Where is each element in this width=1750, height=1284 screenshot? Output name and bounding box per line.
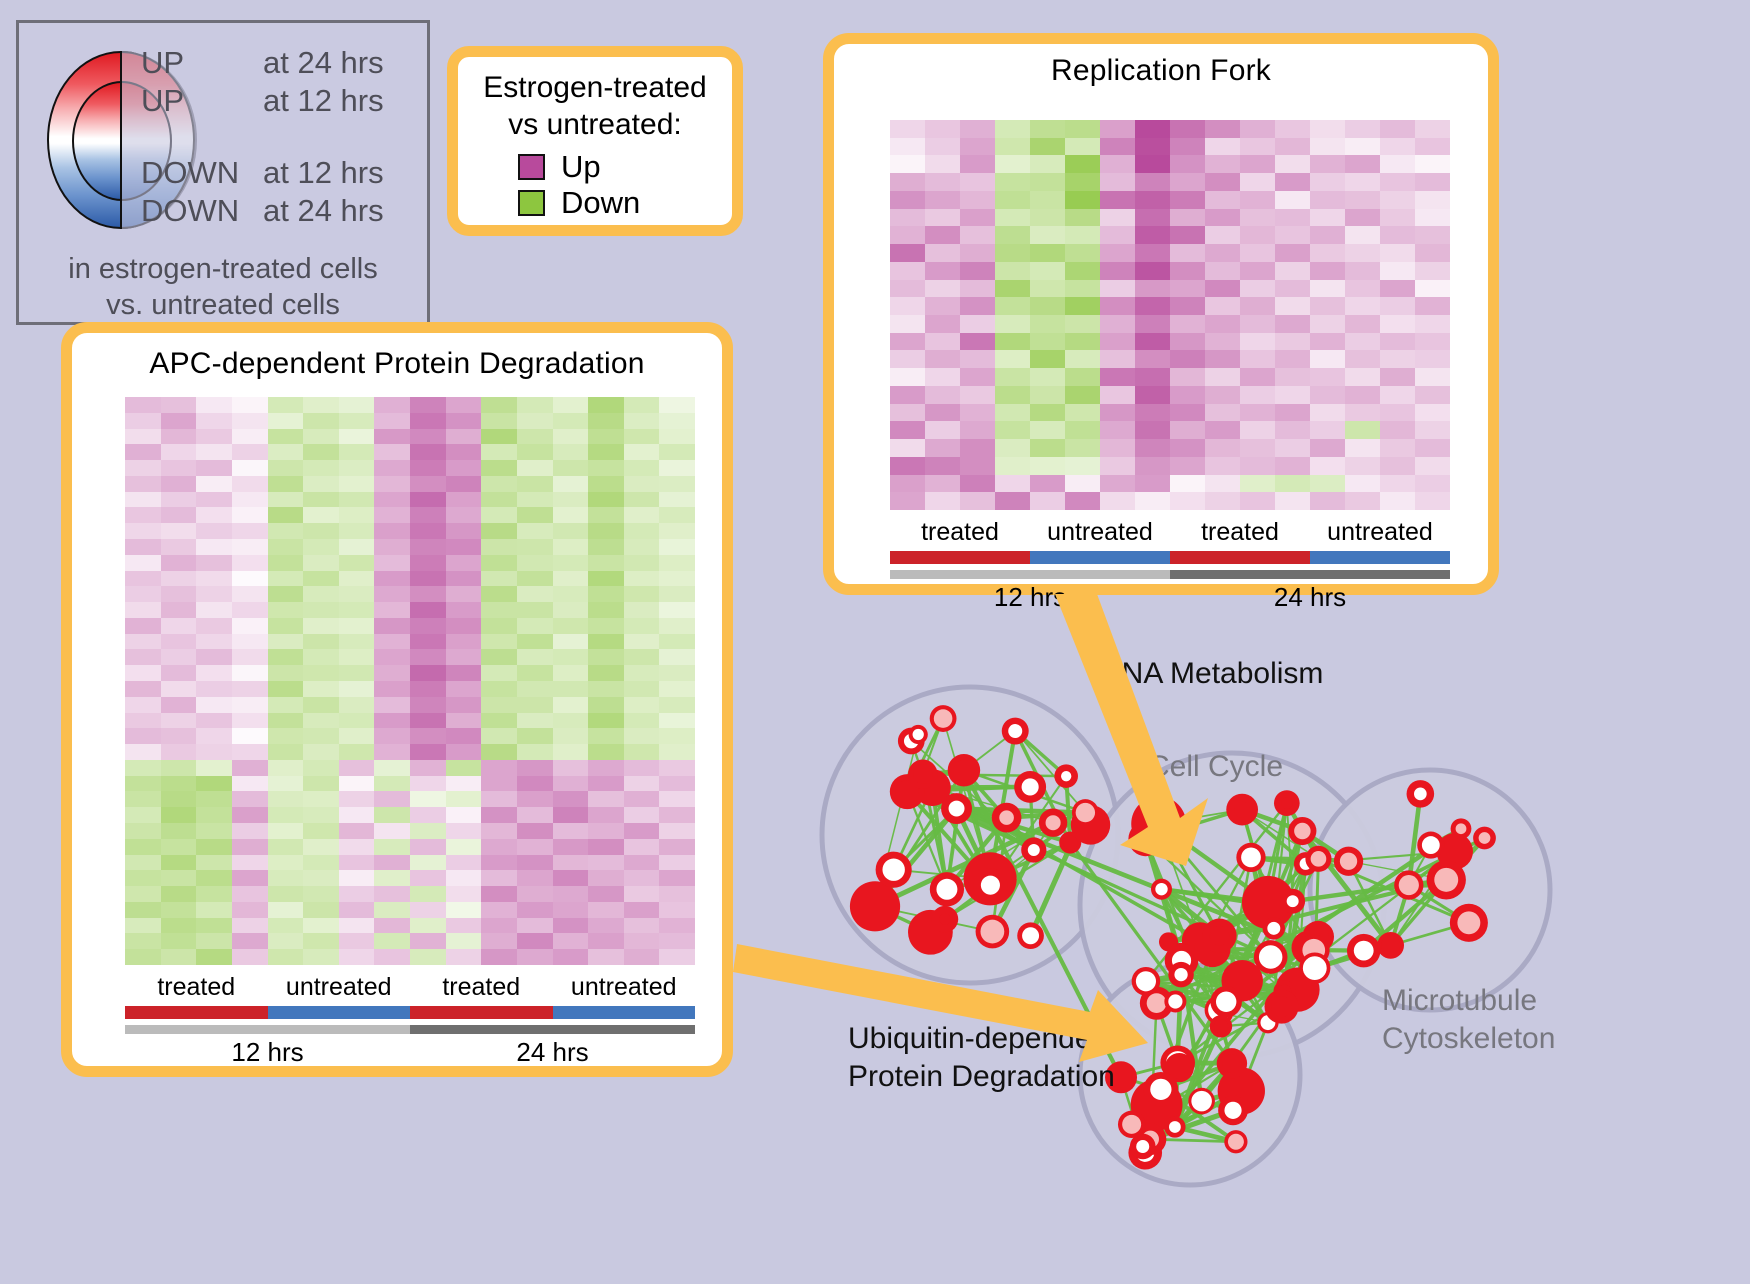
heatmap-cell bbox=[1205, 209, 1240, 227]
heatmap-cell bbox=[481, 870, 517, 886]
heatmap-cell bbox=[268, 807, 304, 823]
heatmap-cell bbox=[339, 728, 375, 744]
heatmap-cell bbox=[339, 949, 375, 965]
heatmap-cell bbox=[960, 457, 995, 475]
heatmap-cell bbox=[588, 902, 624, 918]
heatmap-cell bbox=[659, 586, 695, 602]
heatmap-cell bbox=[339, 776, 375, 792]
heatmap-cell bbox=[1310, 262, 1345, 280]
heatmap-cell bbox=[268, 933, 304, 949]
heatmap-cell bbox=[446, 902, 482, 918]
heatmap-cell bbox=[196, 444, 232, 460]
heatmap-cell bbox=[374, 665, 410, 681]
heatmap-cell bbox=[232, 429, 268, 445]
heatmap-cell bbox=[1310, 421, 1345, 439]
network-label-dna-metabolism: DNA Metabolism bbox=[1100, 655, 1323, 693]
network-node-core bbox=[1191, 1091, 1212, 1112]
heatmap-cell bbox=[339, 476, 375, 492]
heatmap-cell bbox=[1240, 173, 1275, 191]
network-node-core bbox=[1422, 836, 1440, 854]
heatmap-cell bbox=[125, 571, 161, 587]
heatmap-cell bbox=[410, 776, 446, 792]
heatmap-cell bbox=[890, 155, 925, 173]
heatmap-cell bbox=[624, 697, 660, 713]
heatmap-cell bbox=[481, 618, 517, 634]
heatmap-cell bbox=[1415, 386, 1450, 404]
heatmap-cell bbox=[517, 492, 553, 508]
heatmap-cell bbox=[446, 634, 482, 650]
network-label-cell-cycle: Cell Cycle bbox=[1148, 748, 1283, 786]
heatmap-cell bbox=[1030, 262, 1065, 280]
heatmap-cell bbox=[588, 413, 624, 429]
heatmap-cell bbox=[1030, 439, 1065, 457]
heatmap-cell bbox=[339, 760, 375, 776]
heatmap-cell bbox=[232, 697, 268, 713]
legend-item-up: Up bbox=[518, 149, 732, 185]
heatmap-cell bbox=[1380, 421, 1415, 439]
heatmap-cell bbox=[1065, 297, 1100, 315]
condition-label: untreated bbox=[1310, 518, 1450, 547]
timepoint-label: 24 hrs bbox=[1170, 582, 1450, 613]
heatmap-cell bbox=[1135, 333, 1170, 351]
heatmap-cell bbox=[446, 886, 482, 902]
heatmap-cell bbox=[196, 397, 232, 413]
network-node-core bbox=[980, 920, 1004, 944]
heatmap-cell bbox=[659, 713, 695, 729]
heatmap-cell bbox=[374, 776, 410, 792]
heatmap-cell bbox=[125, 602, 161, 618]
heatmap-cell bbox=[960, 333, 995, 351]
heatmap-cell bbox=[1100, 439, 1135, 457]
heatmap-cell bbox=[232, 807, 268, 823]
heatmap-cell bbox=[339, 886, 375, 902]
heatmap-cell bbox=[1275, 138, 1310, 156]
heatmap-cell bbox=[481, 807, 517, 823]
footer-line-1: in estrogen-treated cells bbox=[19, 251, 427, 287]
network-node-core bbox=[1061, 771, 1071, 781]
heatmap-cell bbox=[1415, 350, 1450, 368]
heatmap-cell bbox=[1380, 297, 1415, 315]
condition-bar-untreated-12 bbox=[268, 1006, 411, 1019]
legend-item-down: Down bbox=[518, 185, 732, 221]
heatmap-cell bbox=[1275, 386, 1310, 404]
heatmap-cell bbox=[232, 602, 268, 618]
heatmap-cell bbox=[659, 397, 695, 413]
heatmap-cell bbox=[960, 315, 995, 333]
heatmap-cell bbox=[446, 949, 482, 965]
heatmap-cell bbox=[588, 602, 624, 618]
heatmap-cell bbox=[339, 649, 375, 665]
heatmap-cell bbox=[1310, 492, 1345, 510]
heatmap-cell bbox=[624, 902, 660, 918]
heatmap-cell bbox=[125, 634, 161, 650]
heatmap-cell bbox=[1275, 368, 1310, 386]
heatmap-cell bbox=[339, 807, 375, 823]
heatmap-cell bbox=[517, 634, 553, 650]
heatmap-cell bbox=[1065, 315, 1100, 333]
heatmap-cell bbox=[1205, 226, 1240, 244]
heatmap-cell bbox=[517, 523, 553, 539]
network-node-core bbox=[1259, 945, 1282, 968]
heatmap-cell bbox=[588, 634, 624, 650]
heatmap-cell bbox=[1415, 209, 1450, 227]
network-node-core bbox=[1241, 848, 1261, 868]
replication-fork-heatmap bbox=[890, 120, 1450, 510]
heatmap-cell bbox=[374, 713, 410, 729]
heatmap-cell bbox=[1030, 315, 1065, 333]
heatmap-cell bbox=[1205, 350, 1240, 368]
heatmap-cell bbox=[232, 744, 268, 760]
legend-title: Estrogen-treated vs untreated: bbox=[458, 69, 732, 143]
heatmap-cell bbox=[196, 949, 232, 965]
heatmap-cell bbox=[410, 665, 446, 681]
heatmap-cell bbox=[624, 949, 660, 965]
heatmap-cell bbox=[374, 397, 410, 413]
heatmap-cell bbox=[553, 902, 589, 918]
heatmap-cell bbox=[1205, 439, 1240, 457]
heatmap-cell bbox=[446, 760, 482, 776]
heatmap-cell bbox=[1100, 262, 1135, 280]
network-node-core bbox=[1434, 868, 1458, 892]
heatmap-cell bbox=[410, 476, 446, 492]
key-row-down-24: DOWN at 24 hrs bbox=[141, 193, 426, 231]
heatmap-cell bbox=[624, 681, 660, 697]
pathway-network-diagram: DNA Metabolism Cell Cycle Microtubule Cy… bbox=[790, 620, 1750, 1279]
heatmap-cell bbox=[410, 713, 446, 729]
heatmap-cell bbox=[553, 744, 589, 760]
heatmap-cell bbox=[553, 571, 589, 587]
heatmap-cell bbox=[1030, 386, 1065, 404]
heatmap-cell bbox=[624, 618, 660, 634]
heatmap-cell bbox=[1275, 350, 1310, 368]
heatmap-cell bbox=[268, 823, 304, 839]
heatmap-cell bbox=[553, 555, 589, 571]
heatmap-cell bbox=[1205, 191, 1240, 209]
heatmap-cell bbox=[303, 744, 339, 760]
heatmap-color-legend-panel: Estrogen-treated vs untreated: Up Down bbox=[447, 46, 743, 236]
heatmap-cell bbox=[588, 949, 624, 965]
heatmap-cell bbox=[517, 760, 553, 776]
heatmap-cell bbox=[1030, 226, 1065, 244]
heatmap-cell bbox=[1310, 404, 1345, 422]
heatmap-cell bbox=[1205, 421, 1240, 439]
heatmap-cell bbox=[1030, 368, 1065, 386]
heatmap-cell bbox=[125, 823, 161, 839]
heatmap-cell bbox=[553, 728, 589, 744]
heatmap-cell bbox=[446, 539, 482, 555]
heatmap-cell bbox=[1345, 492, 1380, 510]
heatmap-cell bbox=[481, 839, 517, 855]
heatmap-cell bbox=[1380, 262, 1415, 280]
heatmap-cell bbox=[517, 697, 553, 713]
heatmap-cell bbox=[196, 460, 232, 476]
heatmap-cell bbox=[659, 665, 695, 681]
heatmap-cell bbox=[196, 886, 232, 902]
heatmap-cell bbox=[410, 902, 446, 918]
heatmap-cell bbox=[1135, 492, 1170, 510]
heatmap-cell bbox=[960, 191, 995, 209]
heatmap-cell bbox=[553, 918, 589, 934]
heatmap-cell bbox=[1030, 209, 1065, 227]
heatmap-cell bbox=[374, 902, 410, 918]
heatmap-cell bbox=[1345, 173, 1380, 191]
heatmap-cell bbox=[374, 697, 410, 713]
heatmap-cell bbox=[161, 760, 197, 776]
heatmap-cell bbox=[925, 244, 960, 262]
heatmap-cell bbox=[232, 397, 268, 413]
heatmap-cell bbox=[925, 404, 960, 422]
heatmap-cell bbox=[624, 476, 660, 492]
heatmap-cell bbox=[1345, 475, 1380, 493]
heatmap-cell bbox=[161, 555, 197, 571]
heatmap-cell bbox=[925, 138, 960, 156]
heatmap-cell bbox=[481, 602, 517, 618]
heatmap-cell bbox=[125, 618, 161, 634]
network-node-core bbox=[1303, 956, 1327, 980]
heatmap-cell bbox=[1100, 297, 1135, 315]
heatmap-cell bbox=[339, 429, 375, 445]
heatmap-cell bbox=[446, 413, 482, 429]
heatmap-cell bbox=[268, 713, 304, 729]
heatmap-cell bbox=[1275, 155, 1310, 173]
heatmap-cell bbox=[1170, 475, 1205, 493]
heatmap-cell bbox=[232, 713, 268, 729]
heatmap-cell bbox=[374, 571, 410, 587]
heatmap-cell bbox=[481, 933, 517, 949]
heatmap-cell bbox=[995, 297, 1030, 315]
heatmap-cell bbox=[659, 539, 695, 555]
network-svg bbox=[790, 620, 1750, 1279]
heatmap-cell bbox=[481, 429, 517, 445]
heatmap-cell bbox=[268, 744, 304, 760]
heatmap-cell bbox=[624, 713, 660, 729]
condition-labels: treated untreated treated untreated bbox=[890, 518, 1450, 547]
heatmap-cell bbox=[125, 397, 161, 413]
heatmap-cell bbox=[1345, 333, 1380, 351]
heatmap-cell bbox=[303, 839, 339, 855]
heatmap-cell bbox=[410, 791, 446, 807]
heatmap-cell bbox=[1310, 457, 1345, 475]
heatmap-cell bbox=[446, 602, 482, 618]
heatmap-cell bbox=[588, 933, 624, 949]
network-node-core bbox=[1150, 1079, 1171, 1100]
heatmap-cell bbox=[1030, 280, 1065, 298]
heatmap-cell bbox=[161, 444, 197, 460]
network-node-core bbox=[1228, 1134, 1244, 1150]
timepoint-labels: 12 hrs 24 hrs bbox=[125, 1037, 695, 1068]
heatmap-cell bbox=[232, 523, 268, 539]
heatmap-cell bbox=[125, 839, 161, 855]
heatmap-cell bbox=[1065, 120, 1100, 138]
heatmap-cell bbox=[1030, 297, 1065, 315]
heatmap-cell bbox=[1310, 315, 1345, 333]
heatmap-cell bbox=[125, 476, 161, 492]
heatmap-cell bbox=[481, 681, 517, 697]
heatmap-cell bbox=[624, 492, 660, 508]
heatmap-cell bbox=[890, 209, 925, 227]
heatmap-cell bbox=[517, 460, 553, 476]
heatmap-cell bbox=[1275, 404, 1310, 422]
heatmap-cell bbox=[446, 555, 482, 571]
heatmap-cell bbox=[890, 368, 925, 386]
heatmap-cell bbox=[995, 421, 1030, 439]
heatmap-cell bbox=[446, 791, 482, 807]
network-node-core bbox=[1222, 1054, 1241, 1073]
heatmap-cell bbox=[995, 226, 1030, 244]
heatmap-cell bbox=[553, 681, 589, 697]
heatmap-cell bbox=[1100, 457, 1135, 475]
heatmap-cell bbox=[339, 460, 375, 476]
condition-label: treated bbox=[410, 973, 553, 1002]
heatmap-cell bbox=[1065, 421, 1100, 439]
heatmap-cell bbox=[196, 476, 232, 492]
key-term: UP bbox=[141, 83, 263, 119]
network-node-core bbox=[1381, 936, 1400, 955]
heatmap-cell bbox=[446, 618, 482, 634]
heatmap-cell bbox=[446, 476, 482, 492]
network-node-core bbox=[1340, 853, 1357, 870]
heatmap-cell bbox=[1310, 350, 1345, 368]
condition-bar-treated-24 bbox=[1170, 551, 1310, 564]
heatmap-cell bbox=[161, 618, 197, 634]
heatmap-cell bbox=[481, 555, 517, 571]
heatmap-cell bbox=[374, 760, 410, 776]
heatmap-cell bbox=[588, 713, 624, 729]
heatmap-cell bbox=[1310, 138, 1345, 156]
heatmap-cell bbox=[1240, 191, 1275, 209]
heatmap-cell bbox=[553, 665, 589, 681]
heatmap-cell bbox=[268, 918, 304, 934]
heatmap-cell bbox=[588, 507, 624, 523]
heatmap-cell bbox=[1240, 404, 1275, 422]
heatmap-cell bbox=[410, 429, 446, 445]
heatmap-cell bbox=[1100, 280, 1135, 298]
heatmap-cell bbox=[1170, 439, 1205, 457]
heatmap-cell bbox=[339, 397, 375, 413]
circle-key-box: UP at 24 hrs UP at 12 hrs DOWN at 12 hrs… bbox=[16, 20, 430, 325]
heatmap-cell bbox=[1345, 155, 1380, 173]
heatmap-cell bbox=[232, 791, 268, 807]
heatmap-cell bbox=[553, 933, 589, 949]
heatmap-cell bbox=[553, 823, 589, 839]
heatmap-cell bbox=[1135, 368, 1170, 386]
heatmap-cell bbox=[588, 649, 624, 665]
heatmap-cell bbox=[1030, 421, 1065, 439]
heatmap-cell bbox=[339, 523, 375, 539]
heatmap-cell bbox=[553, 776, 589, 792]
network-node-core bbox=[1281, 797, 1293, 809]
heatmap-cell bbox=[1310, 475, 1345, 493]
heatmap-cell bbox=[196, 634, 232, 650]
heatmap-cell bbox=[553, 444, 589, 460]
heatmap-cell bbox=[161, 492, 197, 508]
heatmap-cell bbox=[374, 618, 410, 634]
heatmap-cell bbox=[1380, 315, 1415, 333]
network-node-core bbox=[1399, 875, 1419, 895]
heatmap-cell bbox=[125, 728, 161, 744]
footer-line-2: vs. untreated cells bbox=[19, 287, 427, 323]
heatmap-cell bbox=[1345, 404, 1380, 422]
heatmap-cell bbox=[268, 507, 304, 523]
heatmap-cell bbox=[925, 209, 960, 227]
heatmap-cell bbox=[446, 460, 482, 476]
heatmap-cell bbox=[890, 492, 925, 510]
heatmap-cell bbox=[481, 397, 517, 413]
heatmap-cell bbox=[268, 555, 304, 571]
key-term: UP bbox=[141, 45, 263, 81]
legend-swatch-down-icon bbox=[518, 190, 545, 216]
heatmap-cell bbox=[1065, 244, 1100, 262]
heatmap-cell bbox=[196, 586, 232, 602]
heatmap-cell bbox=[268, 413, 304, 429]
heatmap-cell bbox=[1030, 350, 1065, 368]
heatmap-cell bbox=[1345, 280, 1380, 298]
heatmap-cell bbox=[232, 476, 268, 492]
heatmap-cell bbox=[303, 460, 339, 476]
heatmap-cell bbox=[553, 586, 589, 602]
heatmap-cell bbox=[1345, 368, 1380, 386]
heatmap-cell bbox=[196, 507, 232, 523]
heatmap-cell bbox=[624, 886, 660, 902]
heatmap-cell bbox=[446, 933, 482, 949]
heatmap-cell bbox=[1100, 475, 1135, 493]
heatmap-cell bbox=[481, 823, 517, 839]
network-node-core bbox=[949, 801, 965, 817]
heatmap-cell bbox=[1065, 138, 1100, 156]
heatmap-cell bbox=[125, 776, 161, 792]
heatmap-cell bbox=[303, 728, 339, 744]
network-node-core bbox=[1311, 851, 1327, 867]
heatmap-cell bbox=[517, 870, 553, 886]
heatmap-cell bbox=[481, 665, 517, 681]
network-node-core bbox=[1122, 1115, 1141, 1134]
heatmap-cell bbox=[517, 902, 553, 918]
heatmap-cell bbox=[481, 776, 517, 792]
heatmap-cell bbox=[1310, 244, 1345, 262]
heatmap-cell bbox=[374, 523, 410, 539]
heatmap-cell bbox=[588, 776, 624, 792]
heatmap-cell bbox=[1415, 315, 1450, 333]
heatmap-cell bbox=[659, 933, 695, 949]
heatmap-cell bbox=[232, 634, 268, 650]
heatmap-cell bbox=[588, 523, 624, 539]
legend-title-line-2: vs untreated: bbox=[458, 106, 732, 143]
heatmap-cell bbox=[374, 807, 410, 823]
heatmap-cell bbox=[1135, 457, 1170, 475]
heatmap-cell bbox=[1380, 350, 1415, 368]
key-row-down-12: DOWN at 12 hrs bbox=[141, 155, 426, 193]
heatmap-cell bbox=[446, 444, 482, 460]
heatmap-cell bbox=[1380, 386, 1415, 404]
heatmap-cell bbox=[232, 839, 268, 855]
heatmap-cell bbox=[161, 933, 197, 949]
heatmap-cell bbox=[161, 855, 197, 871]
heatmap-cell bbox=[410, 933, 446, 949]
heatmap-cell bbox=[481, 460, 517, 476]
heatmap-cell bbox=[196, 602, 232, 618]
heatmap-cell bbox=[624, 933, 660, 949]
heatmap-cell bbox=[161, 571, 197, 587]
heatmap-cell bbox=[303, 492, 339, 508]
heatmap-cell bbox=[553, 507, 589, 523]
network-label-ubiquitin-degradation: Ubiquitin-dependent Protein Degradation bbox=[848, 1020, 1117, 1096]
heatmap-cell bbox=[196, 776, 232, 792]
heatmap-cell bbox=[1100, 226, 1135, 244]
heatmap-cell bbox=[925, 226, 960, 244]
condition-bar-untreated-24 bbox=[1310, 551, 1450, 564]
legend-label-down: Down bbox=[561, 185, 640, 221]
heatmap-cell bbox=[890, 475, 925, 493]
